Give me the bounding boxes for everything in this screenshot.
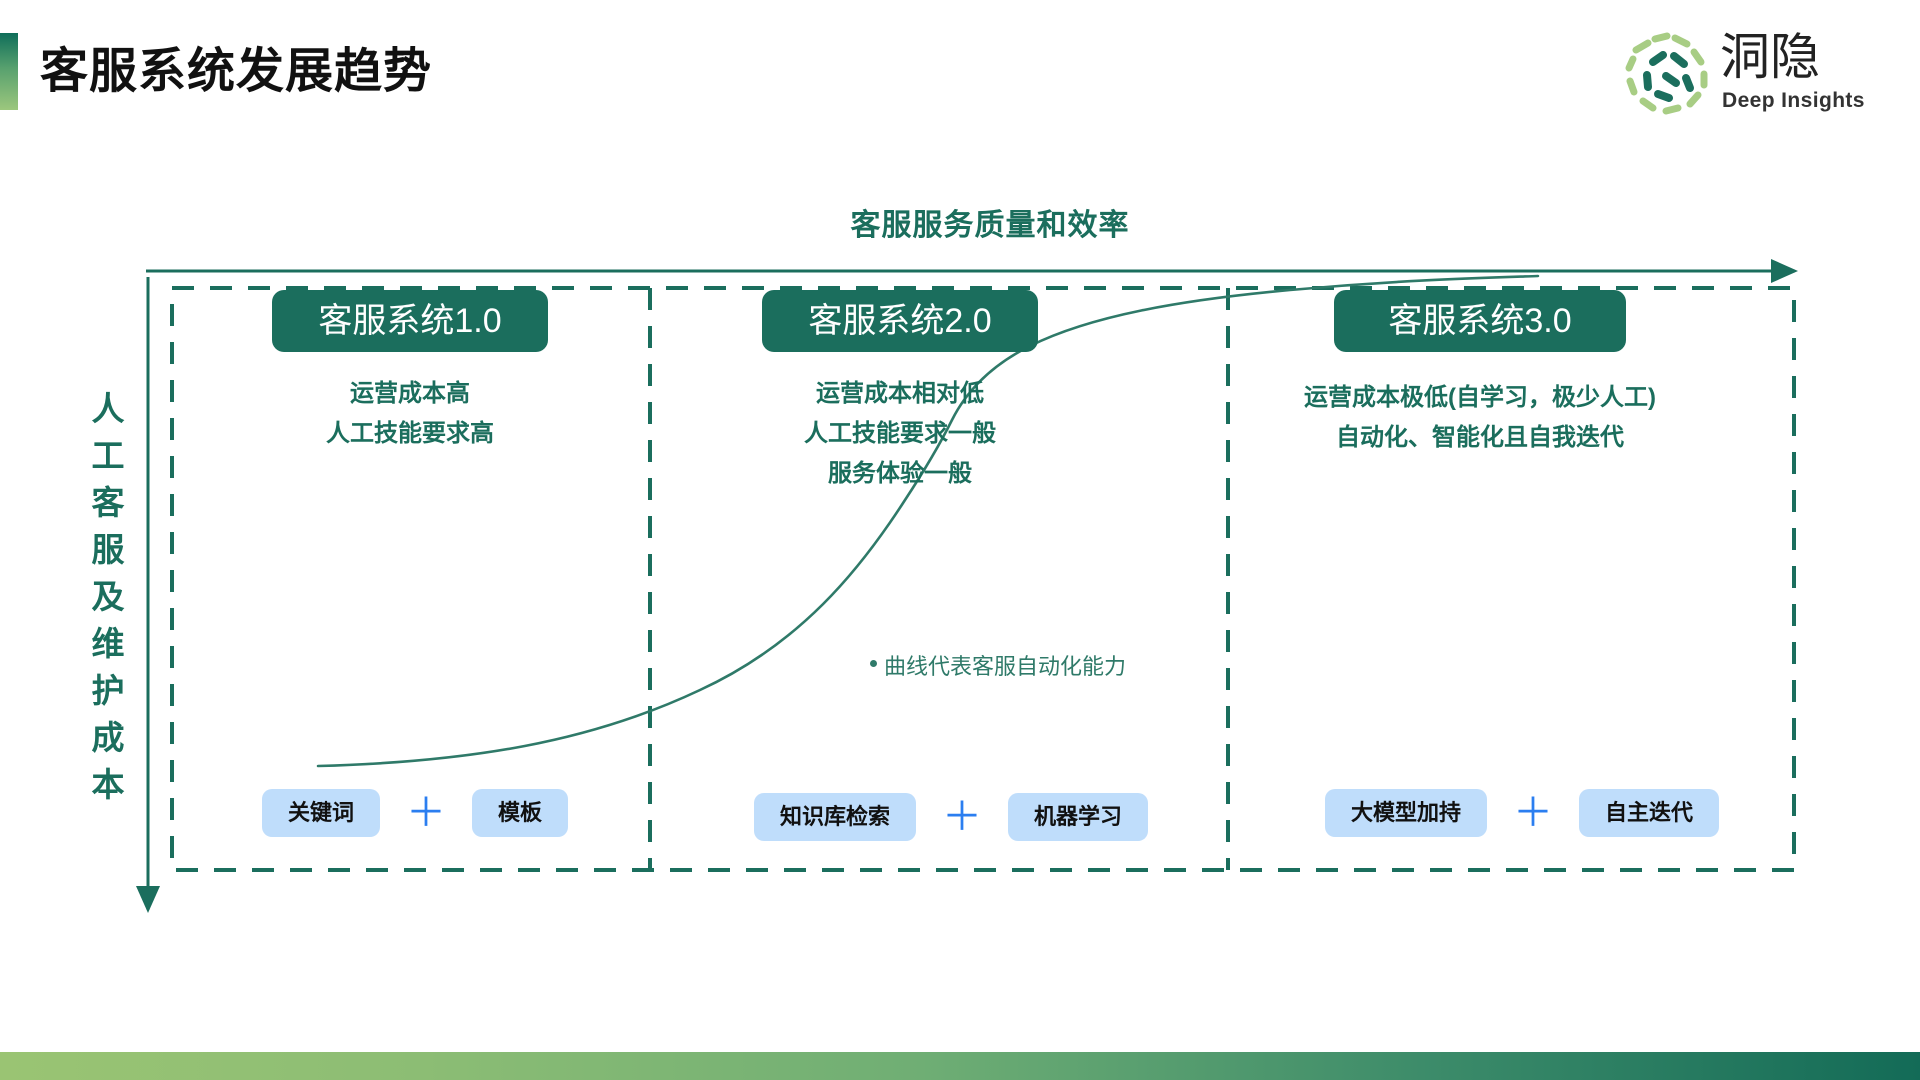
y-axis-char: 及 (80, 573, 136, 620)
bullet-point-icon (870, 660, 877, 667)
stage-column-1: 客服系统1.0 运营成本高 人工技能要求高 (175, 290, 645, 454)
y-axis-char: 维 (80, 620, 136, 667)
y-axis-char: 工 (80, 432, 136, 479)
plus-icon: ＋ (1503, 793, 1563, 833)
scatter-dashes-logo-icon (1622, 30, 1714, 116)
tag-chip[interactable]: 模板 (472, 789, 568, 837)
y-axis-char: 护 (80, 667, 136, 714)
stage-column-3: 客服系统3.0 运营成本极低(自学习，极少人工) 自动化、智能化且自我迭代 (1245, 290, 1715, 458)
stage-point: 自动化、智能化且自我迭代 (1245, 418, 1715, 458)
tag-chip[interactable]: 自主迭代 (1579, 789, 1719, 837)
y-axis-char: 客 (80, 479, 136, 526)
stage-point: 人工技能要求高 (175, 414, 645, 454)
y-axis-char: 人 (80, 385, 136, 432)
stage-badge-2[interactable]: 客服系统2.0 (762, 290, 1037, 352)
diagram-canvas (0, 0, 1920, 1080)
tag-chip[interactable]: 关键词 (262, 789, 380, 837)
y-axis-title: 人 工 客 服 及 维 护 成 本 (80, 385, 136, 808)
stage-point: 服务体验一般 (665, 454, 1135, 494)
tag-chip[interactable]: 大模型加持 (1325, 789, 1487, 837)
tag-chip[interactable]: 知识库检索 (754, 793, 916, 841)
stage-points-1: 运营成本高 人工技能要求高 (175, 374, 645, 454)
stage-tags-3: 大模型加持 ＋ 自主迭代 (1325, 789, 1719, 837)
y-axis-char: 服 (80, 526, 136, 573)
stage-badge-3[interactable]: 客服系统3.0 (1334, 290, 1625, 352)
logo-brand-en: Deep Insights (1722, 88, 1865, 114)
stage-points-2: 运营成本相对低 人工技能要求一般 服务体验一般 (665, 374, 1135, 494)
footer-gradient-bar (0, 1052, 1920, 1080)
y-axis-char: 本 (80, 761, 136, 808)
logo-brand-zh: 洞隐 (1720, 28, 1820, 86)
stage-badge-1[interactable]: 客服系统1.0 (272, 290, 547, 352)
tag-chip[interactable]: 机器学习 (1008, 793, 1148, 841)
y-axis-char: 成 (80, 714, 136, 761)
title-accent-bar (0, 33, 18, 110)
page-title: 客服系统发展趋势 (40, 38, 432, 106)
stage-tags-1: 关键词 ＋ 模板 (262, 789, 568, 837)
stage-points-3: 运营成本极低(自学习，极少人工) 自动化、智能化且自我迭代 (1245, 378, 1715, 458)
x-axis-title: 客服服务质量和效率 (0, 200, 1920, 244)
stage-tags-2: 知识库检索 ＋ 机器学习 (754, 793, 1148, 841)
brand-logo: 洞隐 Deep Insights (1622, 24, 1872, 120)
plus-icon: ＋ (396, 793, 456, 833)
plus-icon: ＋ (932, 797, 992, 837)
stage-column-2: 客服系统2.0 运营成本相对低 人工技能要求一般 服务体验一般 (665, 290, 1135, 494)
curve-annotation-label: 曲线代表客服自动化能力 (884, 652, 1126, 682)
stage-point: 运营成本极低(自学习，极少人工) (1245, 378, 1715, 418)
stage-point: 运营成本高 (175, 374, 645, 414)
stage-point: 运营成本相对低 (665, 374, 1135, 414)
stage-point: 人工技能要求一般 (665, 414, 1135, 454)
slide-canvas: 客服系统发展趋势 洞隐 Deep (0, 0, 1920, 1080)
